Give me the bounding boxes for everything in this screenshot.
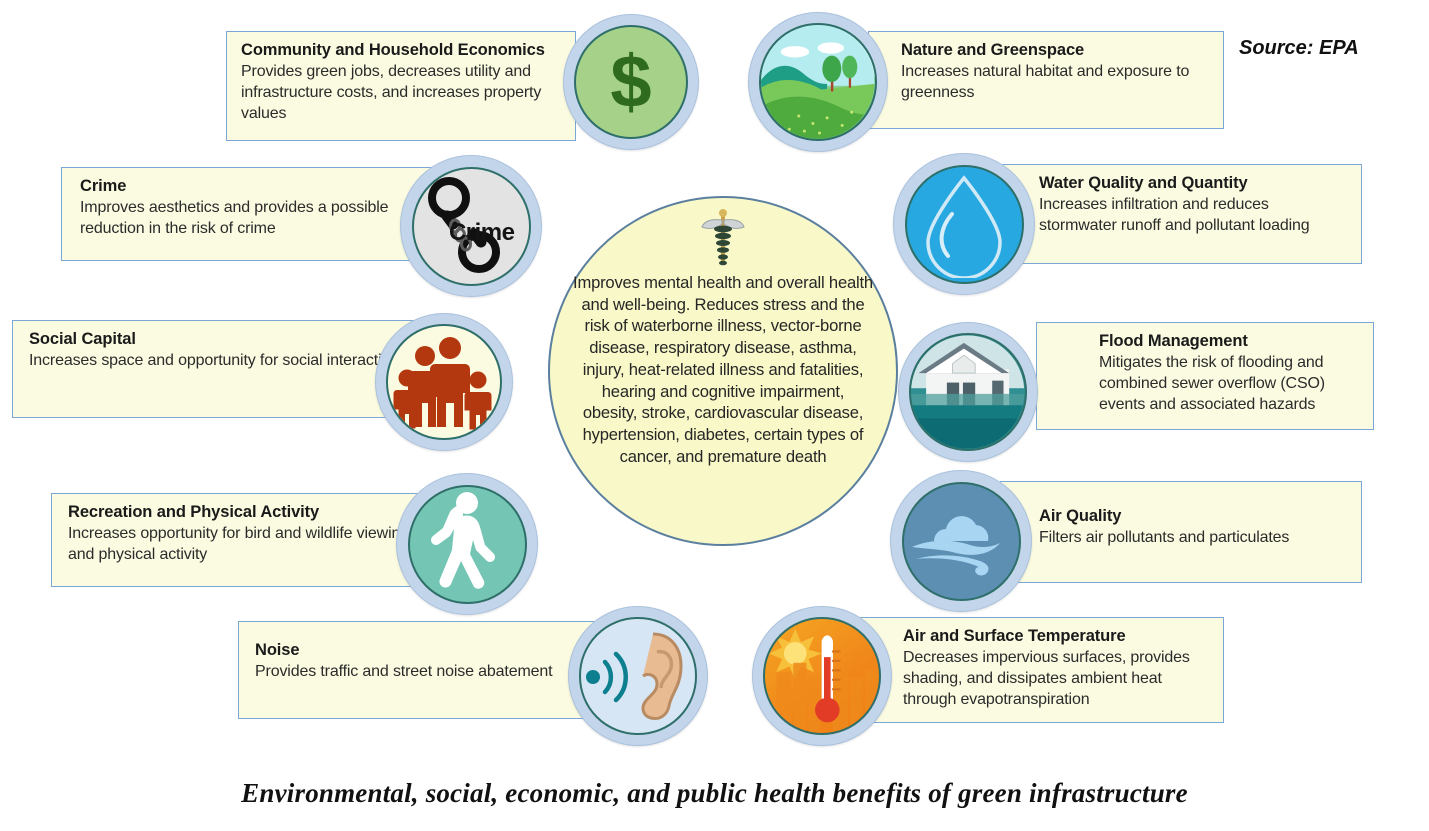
icon-circle-noise[interactable] [568,606,708,746]
benefit-description: Decreases impervious surfaces, provides … [903,648,1211,710]
icon-circle-flood-management[interactable] [898,322,1038,462]
icon-circle-air-quality[interactable] [890,470,1032,612]
benefit-description: Increases infiltration and reduces storm… [1039,195,1349,237]
icon-circle-nature-and-greenspace[interactable] [748,12,888,152]
benefit-description: Increases natural habitat and exposure t… [901,62,1211,104]
icon-circle-crime[interactable]: Crime [400,155,542,297]
benefit-box-community-household-economics[interactable]: Community and Household Economics Provid… [226,31,576,141]
benefit-box-crime[interactable]: Crime Improves aesthetics and provides a… [61,167,451,261]
temperature-svg [765,617,878,734]
icon-circle-recreation-and-physical-activity[interactable] [396,473,538,615]
crime-icon-label: Crime [449,219,515,247]
water-drop-icon [905,165,1024,284]
center-health-circle: Improves mental health and overall healt… [548,196,898,546]
handcuffs-icon: Crime [412,167,531,286]
figure-caption: Environmental, social, economic, and pub… [0,778,1429,809]
dollar-sign-icon: $ [574,25,688,139]
benefit-title: Crime [80,176,438,197]
benefit-box-air-quality[interactable]: Air Quality Filters air pollutants and p… [1000,481,1362,583]
benefit-box-flood-management[interactable]: Flood Management Mitigates the risk of f… [1036,322,1374,430]
landscape-trees-icon [759,23,876,140]
ear-soundwave-svg [583,626,693,726]
benefit-title: Social Capital [29,329,417,350]
benefit-title: Recreation and Physical Activity [68,502,438,523]
flooded-house-svg [911,333,1024,450]
family-svg [392,332,496,432]
benefit-description: Increases space and opportunity for soci… [29,351,417,372]
benefit-title: Water Quality and Quantity [1039,173,1349,194]
flooded-house-icon [909,333,1026,450]
benefit-title: Air and Surface Temperature [903,626,1211,647]
benefit-description: Mitigates the risk of flooding and combi… [1099,353,1361,415]
water-drop-svg [914,170,1014,278]
benefit-description: Increases opportunity for bird and wildl… [68,524,438,566]
infographic-canvas: Source: EPA Community and Household Econ… [0,0,1429,831]
walking-person-svg [417,489,517,599]
benefit-description: Improves aesthetics and provides a possi… [80,198,438,240]
icon-circle-water-quality-and-quantity[interactable] [893,153,1035,295]
icon-circle-community-household-economics[interactable]: $ [563,14,699,150]
cloud-wind-svg [906,493,1016,589]
benefit-box-nature-and-greenspace[interactable]: Nature and Greenspace Increases natural … [868,31,1224,129]
family-group-icon [386,324,502,440]
icon-circle-air-and-surface-temperature[interactable] [752,606,892,746]
benefit-box-water-quality-and-quantity[interactable]: Water Quality and Quantity Increases inf… [1000,164,1362,264]
benefit-title: Flood Management [1099,331,1361,352]
center-health-text: Improves mental health and overall healt… [573,272,873,468]
landscape-svg [761,23,874,140]
benefit-title: Air Quality [1039,506,1349,527]
sun-thermometer-city-icon [763,617,880,734]
benefit-box-social-capital[interactable]: Social Capital Increases space and oppor… [12,320,430,418]
cloud-wind-icon [902,482,1021,601]
ear-soundwave-icon [579,617,696,734]
caduceus-icon [701,208,745,270]
benefit-description: Filters air pollutants and particulates [1039,528,1349,549]
benefit-box-air-and-surface-temperature[interactable]: Air and Surface Temperature Decreases im… [844,617,1224,723]
icon-circle-social-capital[interactable] [375,313,513,451]
benefit-description: Provides traffic and street noise abatem… [255,662,615,683]
benefit-title: Community and Household Economics [241,40,563,61]
benefit-description: Provides green jobs, decreases utility a… [241,62,563,124]
source-label: Source: EPA [1239,37,1359,60]
dollar-glyph: $ [610,45,651,119]
walking-person-icon [408,485,527,604]
benefit-box-recreation-and-physical-activity[interactable]: Recreation and Physical Activity Increas… [51,493,451,587]
benefit-title: Nature and Greenspace [901,40,1211,61]
benefit-title: Noise [255,640,615,661]
